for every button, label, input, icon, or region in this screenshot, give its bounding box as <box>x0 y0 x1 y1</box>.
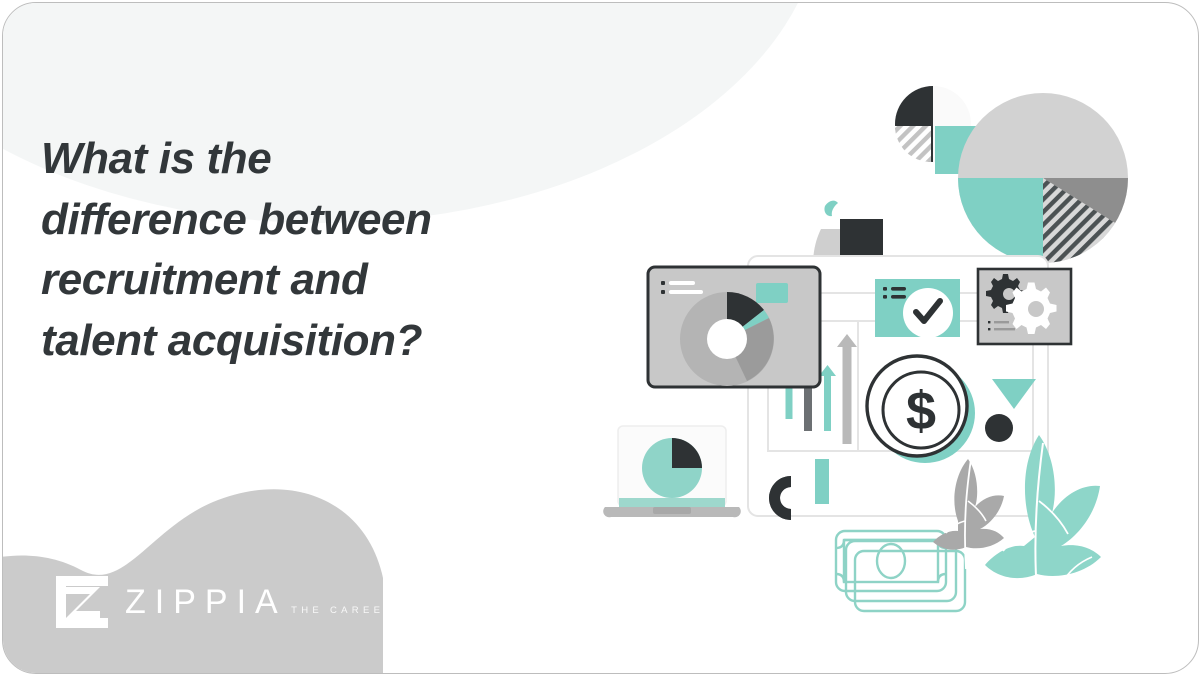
laptop-icon <box>603 426 741 517</box>
gears-icon <box>978 269 1071 344</box>
page-title: What is the difference between recruitme… <box>41 129 586 372</box>
headline-line-1: What is the <box>41 129 586 190</box>
pie-chart-icon <box>958 93 1128 263</box>
brand-wordmark: ZIPPIA THE CAREER EXPERT <box>125 585 466 619</box>
zippia-blog-hero-card: What is the difference between recruitme… <box>0 0 1201 676</box>
donut-chart-icon <box>648 267 820 387</box>
brand-name: ZIPPIA <box>125 583 287 621</box>
brand-tagline: THE CAREER EXPERT <box>291 605 466 616</box>
headline-line-4: talent acquisition? <box>41 311 586 372</box>
zippia-z-square-icon <box>53 573 111 631</box>
coin-symbol: $ <box>906 381 936 441</box>
brand-logo[interactable]: ZIPPIA THE CAREER EXPERT <box>53 573 466 631</box>
brand-blob <box>2 458 383 674</box>
vertical-bar-icon <box>815 459 829 504</box>
hr-analytics-illustration: $ <box>603 51 1183 631</box>
headline-line-2: difference between <box>41 190 586 251</box>
check-circle-icon <box>875 279 960 338</box>
circle-dot-icon <box>985 414 1013 442</box>
card-frame: What is the difference between recruitme… <box>2 2 1199 674</box>
headline-line-3: recruitment and <box>41 250 586 311</box>
